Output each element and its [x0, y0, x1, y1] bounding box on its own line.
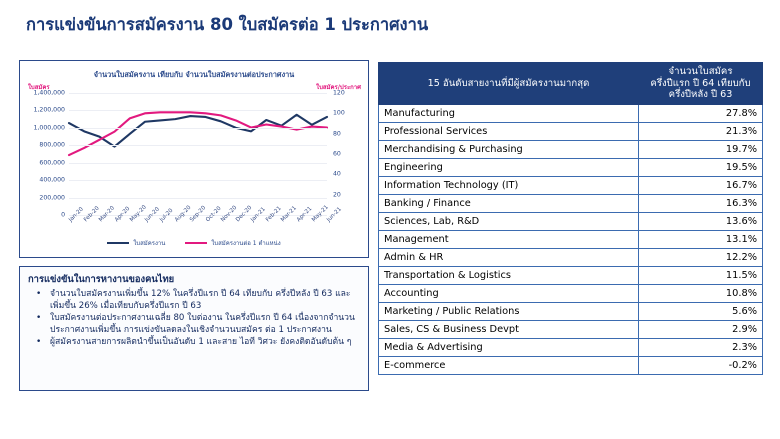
insight-bullet: •จำนวนใบสมัครงานเพิ่มขึ้น 12% ในครึ่งปีแ…: [28, 289, 360, 312]
chart-y2-tick: 40: [333, 171, 341, 178]
chart-legend: ใบสมัครงานใบสมัครงานต่อ 1 ตำแหน่ง: [20, 238, 368, 248]
insight-bullet-text: จำนวนใบสมัครงานเพิ่มขึ้น 12% ในครึ่งปีแร…: [50, 289, 351, 311]
table-cell-industry: E-commerce: [379, 356, 639, 374]
table-cell-growth: 16.3%: [639, 194, 763, 212]
insights-heading: การแข่งขันในการหางานของคนไทย: [28, 272, 360, 287]
table-cell-growth: 16.7%: [639, 176, 763, 194]
table-row[interactable]: Professional Services21.3%: [379, 122, 763, 140]
table-cell-growth: 10.8%: [639, 284, 763, 302]
table-cell-industry: Sales, CS & Business Devpt: [379, 320, 639, 338]
table-header-row: 15 อันดับสายงานที่มีผู้สมัครงานมากสุด จำ…: [379, 63, 763, 105]
table-row[interactable]: Admin & HR12.2%: [379, 248, 763, 266]
chart-legend-item-2[interactable]: ใบสมัครงานต่อ 1 ตำแหน่ง: [185, 238, 280, 248]
table-row[interactable]: Accounting10.8%: [379, 284, 763, 302]
legend-swatch-icon: [107, 242, 129, 245]
table-header-growth-line2: ครึ่งปีแรก ปี 64 เทียบกับ: [650, 78, 750, 89]
chart-gridline: [69, 110, 327, 111]
table-row[interactable]: Sales, CS & Business Devpt2.9%: [379, 320, 763, 338]
table-cell-industry: Professional Services: [379, 122, 639, 140]
table-cell-industry: Information Technology (IT): [379, 176, 639, 194]
insight-bullet: •ผู้สมัครงานสายการผลิตนำขึ้นเป็นอันดับ 1…: [28, 337, 360, 349]
chart-y-tick: 800,000: [39, 142, 65, 149]
chart-plot-area: 0200,000400,000600,000800,0001,000,0001,…: [69, 93, 327, 215]
table-cell-growth: 12.2%: [639, 248, 763, 266]
chart-y-tick: 1,200,000: [34, 107, 66, 114]
chart-gridline: [69, 145, 327, 146]
chart-legend-item-1[interactable]: ใบสมัครงาน: [107, 238, 165, 248]
table-header-growth-line3: ครึ่งปีหลัง ปี 63: [669, 89, 733, 100]
table-cell-industry: Manufacturing: [379, 104, 639, 122]
chart-series-line-1: [69, 115, 327, 147]
table-cell-industry: Accounting: [379, 284, 639, 302]
bullet-icon: •: [36, 337, 41, 349]
table-cell-industry: Admin & HR: [379, 248, 639, 266]
table-cell-industry: Media & Advertising: [379, 338, 639, 356]
chart-y2-tick: 100: [333, 110, 345, 117]
chart-gridline: [69, 180, 327, 181]
chart-y-tick: 600,000: [39, 159, 65, 166]
table-header-industry: 15 อันดับสายงานที่มีผู้สมัครงานมากสุด: [379, 63, 639, 105]
table-cell-growth: 13.1%: [639, 230, 763, 248]
chart-y-tick: 1,000,000: [34, 124, 66, 131]
insight-bullet-text: ผู้สมัครงานสายการผลิตนำขึ้นเป็นอันดับ 1 …: [50, 337, 351, 347]
table-cell-industry: Banking / Finance: [379, 194, 639, 212]
table-cell-growth: 2.3%: [639, 338, 763, 356]
chart-y-tick: 200,000: [39, 194, 65, 201]
insights-box: การแข่งขันในการหางานของคนไทย •จำนวนใบสมั…: [19, 266, 369, 391]
chart-series-line-2: [69, 112, 327, 155]
table-cell-industry: Sciences, Lab, R&D: [379, 212, 639, 230]
chart-y-tick: 1,400,000: [34, 90, 66, 97]
table-cell-industry: Marketing / Public Relations: [379, 302, 639, 320]
insight-bullet-text: ใบสมัครงานต่อประกาศงานเฉลี่ย 80 ใบต่องาน…: [50, 313, 355, 335]
insight-bullet: •ใบสมัครงานต่อประกาศงานเฉลี่ย 80 ใบต่องา…: [28, 313, 360, 336]
chart-card: จำนวนใบสมัครงาน เทียบกับ จำนวนใบสมัครงาน…: [19, 60, 369, 258]
table-cell-growth: 27.8%: [639, 104, 763, 122]
page-title: การแข่งขันการสมัครงาน 80 ใบสมัครต่อ 1 ปร…: [26, 12, 428, 38]
table-cell-industry: Management: [379, 230, 639, 248]
table-body: Manufacturing27.8%Professional Services2…: [379, 104, 763, 374]
table-row[interactable]: E-commerce-0.2%: [379, 356, 763, 374]
chart-legend-label: ใบสมัครงานต่อ 1 ตำแหน่ง: [211, 238, 280, 248]
table-header-growth: จำนวนใบสมัคร ครึ่งปีแรก ปี 64 เทียบกับ ค…: [639, 63, 763, 105]
legend-swatch-icon: [185, 242, 207, 245]
chart-gridline: [69, 128, 327, 129]
table-row[interactable]: Media & Advertising2.3%: [379, 338, 763, 356]
table-row[interactable]: Manufacturing27.8%: [379, 104, 763, 122]
table-cell-industry: Merchandising & Purchasing: [379, 140, 639, 158]
top-industries-table: 15 อันดับสายงานที่มีผู้สมัครงานมากสุด จำ…: [378, 62, 763, 375]
chart-gridline: [69, 93, 327, 94]
table-row[interactable]: Engineering19.5%: [379, 158, 763, 176]
table-row[interactable]: Merchandising & Purchasing19.7%: [379, 140, 763, 158]
table-cell-growth: 19.7%: [639, 140, 763, 158]
table-cell-growth: -0.2%: [639, 356, 763, 374]
table-cell-growth: 13.6%: [639, 212, 763, 230]
table-row[interactable]: Banking / Finance16.3%: [379, 194, 763, 212]
bullet-icon: •: [36, 289, 41, 301]
table-cell-industry: Transportation & Logistics: [379, 266, 639, 284]
chart-y-tick: 400,000: [39, 177, 65, 184]
chart-y-tick: 0: [61, 212, 65, 219]
table-cell-growth: 5.6%: [639, 302, 763, 320]
chart-gridline: [69, 198, 327, 199]
chart-y2-tick: 120: [333, 90, 345, 97]
table-cell-growth: 21.3%: [639, 122, 763, 140]
chart-title: จำนวนใบสมัครงาน เทียบกับ จำนวนใบสมัครงาน…: [20, 70, 368, 81]
table-row[interactable]: Information Technology (IT)16.7%: [379, 176, 763, 194]
chart-legend-label: ใบสมัครงาน: [133, 238, 165, 248]
chart-y2-tick: 60: [333, 151, 341, 158]
table-cell-growth: 2.9%: [639, 320, 763, 338]
chart-y2-tick: 20: [333, 191, 341, 198]
table-cell-industry: Engineering: [379, 158, 639, 176]
table-cell-growth: 11.5%: [639, 266, 763, 284]
table-row[interactable]: Marketing / Public Relations5.6%: [379, 302, 763, 320]
table-row[interactable]: Management13.1%: [379, 230, 763, 248]
table-cell-growth: 19.5%: [639, 158, 763, 176]
chart-y2-tick: 80: [333, 130, 341, 137]
bullet-icon: •: [36, 313, 41, 325]
table-row[interactable]: Transportation & Logistics11.5%: [379, 266, 763, 284]
table-row[interactable]: Sciences, Lab, R&D13.6%: [379, 212, 763, 230]
insights-bullet-list: •จำนวนใบสมัครงานเพิ่มขึ้น 12% ในครึ่งปีแ…: [28, 289, 360, 349]
table-header-growth-line1: จำนวนใบสมัคร: [668, 66, 732, 77]
chart-gridline: [69, 163, 327, 164]
